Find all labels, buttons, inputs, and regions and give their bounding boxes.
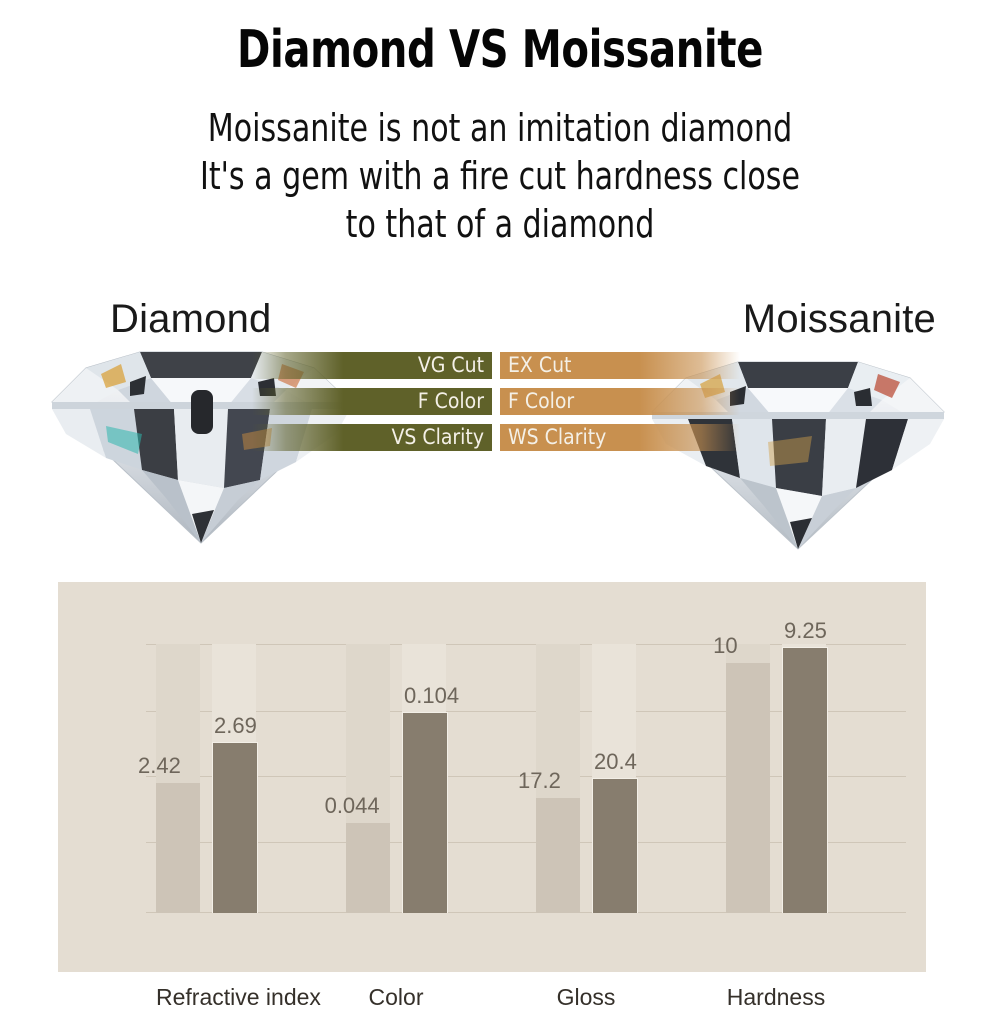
subtitle-line-1: Moissanite is not an imitation diamond — [60, 104, 940, 152]
value-label-diamond: 0.044 — [325, 793, 380, 819]
infographic-page: Diamond VS Moissanite Moissanite is not … — [0, 0, 1000, 1000]
chart-category-group: 2.422.69Refractive index — [156, 644, 296, 913]
chart-category-label: Gloss — [536, 984, 636, 1011]
value-label-moissanite: 0.104 — [404, 683, 459, 709]
badge-diamond-color: F Color — [252, 388, 492, 415]
badge-moissanite-clarity: WS Clarity — [500, 424, 740, 451]
diamond-heading: Diamond — [110, 297, 271, 342]
badge-diamond-cut: VG Cut — [252, 352, 492, 379]
page-title: Diamond VS Moissanite — [70, 24, 930, 76]
badge-moissanite-cut: EX Cut — [500, 352, 740, 379]
chart-category-group: 17.220.4Gloss — [536, 644, 676, 913]
bar-diamond — [536, 798, 580, 913]
bar-diamond — [156, 783, 200, 913]
bar-moissanite — [402, 712, 448, 913]
bar-diamond — [346, 823, 390, 913]
moissanite-spec-badges: EX Cut F Color WS Clarity — [500, 352, 740, 452]
value-label-diamond: 17.2 — [518, 768, 561, 794]
value-label-moissanite: 20.4 — [594, 749, 637, 775]
chart-category-label: Refractive index — [156, 984, 256, 1011]
chart-category-label: Color — [346, 984, 446, 1011]
bar-moissanite — [592, 778, 638, 913]
page-subtitle: Moissanite is not an imitation diamond I… — [60, 104, 940, 248]
chart-category-group: 0.0440.104Color — [346, 644, 486, 913]
moissanite-heading: Moissanite — [743, 297, 936, 342]
chart-category-group: 109.25Hardness — [726, 644, 866, 913]
subtitle-line-2: It's a gem with a fire cut hardness clos… — [60, 152, 940, 200]
bar-diamond — [726, 663, 770, 913]
value-label-moissanite: 9.25 — [784, 618, 827, 644]
value-label-diamond: 2.42 — [138, 753, 181, 779]
subtitle-line-3: to that of a diamond — [60, 200, 940, 248]
bar-moissanite — [212, 742, 258, 913]
chart-category-label: Hardness — [726, 984, 826, 1011]
chart-plot-area: 2.422.69Refractive index0.0440.104Color1… — [146, 644, 906, 913]
bar-moissanite — [782, 647, 828, 913]
badge-diamond-clarity: VS Clarity — [252, 424, 492, 451]
diamond-spec-badges: VG Cut F Color VS Clarity — [252, 352, 492, 452]
comparison-bar-chart: 2.422.69Refractive index0.0440.104Color1… — [58, 582, 926, 972]
value-label-diamond: 10 — [713, 633, 737, 659]
value-label-moissanite: 2.69 — [214, 713, 257, 739]
badge-moissanite-color: F Color — [500, 388, 740, 415]
